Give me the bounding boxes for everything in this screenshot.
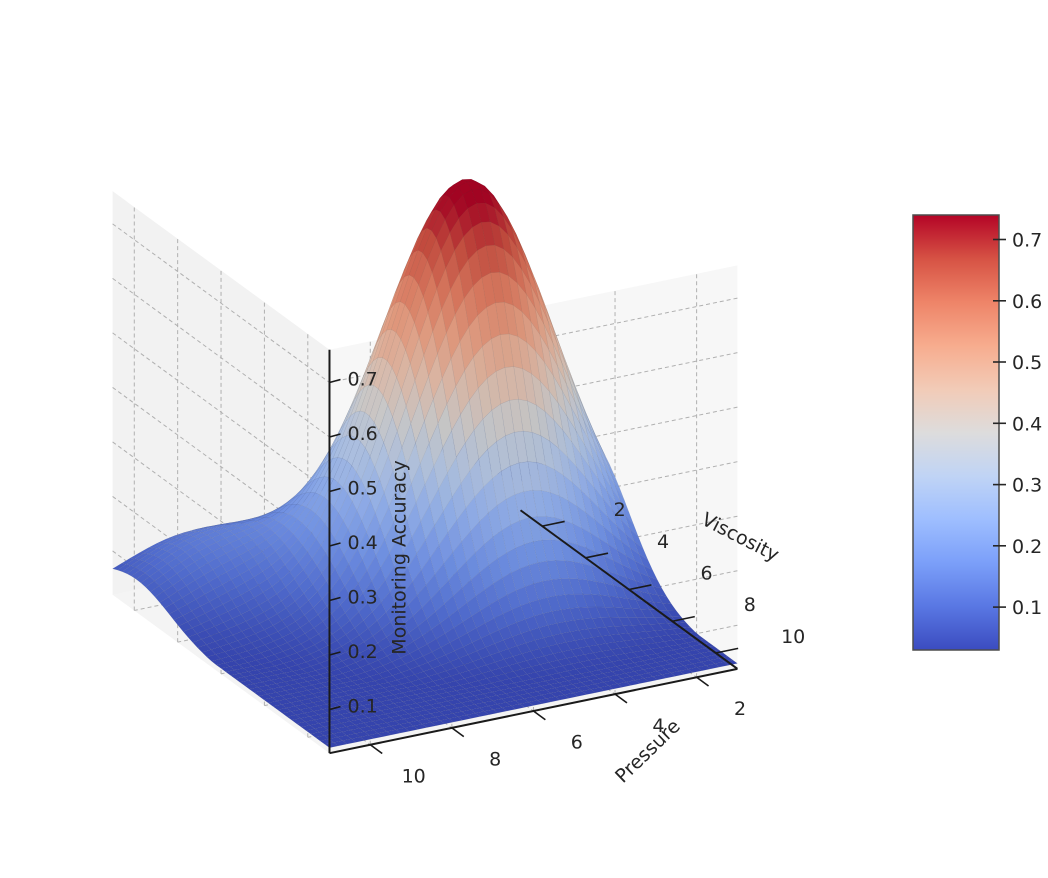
y-tick-label: 6	[571, 732, 583, 754]
colorbar-gradient	[913, 215, 999, 650]
z-axis-title: Monitoring Accuracy	[389, 460, 411, 654]
y-tick-label: 10	[402, 766, 426, 788]
x-tick-label: 8	[744, 594, 756, 616]
z-tick-label: 0.5	[348, 478, 378, 500]
z-tick-label: 0.3	[348, 587, 378, 609]
x-tick-label: 10	[781, 626, 805, 648]
y-tick-label: 8	[489, 749, 501, 771]
y-tick-label: 2	[734, 698, 746, 720]
colorbar-tick-label: 0.1	[1012, 597, 1042, 619]
colorbar: 0.10.20.30.40.50.60.7	[913, 215, 1042, 650]
z-tick-label: 0.6	[348, 423, 378, 445]
colorbar-tick-label: 0.2	[1012, 536, 1042, 558]
colorbar-tick-label: 0.7	[1012, 230, 1042, 252]
y-tick-mark	[533, 711, 545, 720]
colorbar-tick-label: 0.5	[1012, 352, 1042, 374]
z-tick-label: 0.7	[348, 369, 378, 391]
y-tick-mark	[452, 728, 464, 737]
y-tick-mark	[697, 677, 709, 686]
colorbar-tick-label: 0.3	[1012, 475, 1042, 497]
surface-plot-3d: 2468102468100.10.20.30.40.50.60.7 Viscos…	[0, 0, 1048, 878]
y-tick-mark	[370, 745, 382, 754]
z-tick-label: 0.4	[348, 532, 378, 554]
colorbar-tick-label: 0.6	[1012, 291, 1042, 313]
z-tick-label: 0.2	[348, 641, 378, 663]
figure-canvas: 2468102468100.10.20.30.40.50.60.7 Viscos…	[0, 0, 1048, 878]
colorbar-tick-label: 0.4	[1012, 413, 1042, 435]
colorbar-tick-labels: 0.10.20.30.40.50.60.7	[1012, 230, 1042, 620]
y-tick-mark	[615, 694, 627, 703]
x-tick-label: 2	[614, 499, 626, 521]
x-tick-label: 6	[700, 563, 712, 585]
y-axis-title: Pressure	[611, 715, 685, 787]
x-tick-label: 4	[657, 531, 669, 553]
z-tick-label: 0.1	[348, 696, 378, 718]
